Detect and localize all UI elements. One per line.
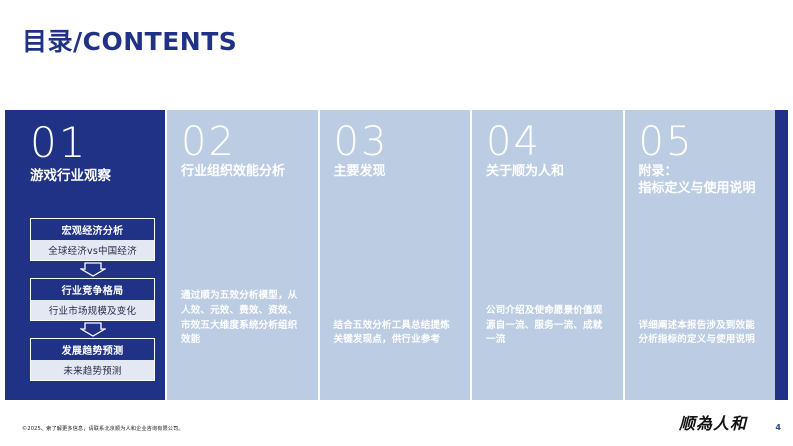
panel-subtitle-04: 关于顺为人和 [486, 164, 609, 181]
panel-list: 01 游戏行业观察 宏观经济分析 全球经济vs中国经济 行业竞争格局 行业市场规… [18, 110, 775, 400]
contents-panel-01[interactable]: 01 游戏行业观察 宏观经济分析 全球经济vs中国经济 行业竞争格局 行业市场规… [18, 110, 165, 400]
flow-step-1-detail: 全球经济vs中国经济 [31, 240, 154, 260]
contents-panel-03[interactable]: 03 主要发现 结合五效分析工具总结提炼关键发现点，供行业参考 [320, 110, 471, 400]
brand-logo: 顺為人和 [679, 410, 747, 434]
flow-step-2-title: 行业竞争格局 [31, 279, 154, 300]
contents-panel-02[interactable]: 02 行业组织效能分析 通过顺为五效分析模型，从人效、元效、费效、资效、市效五大… [167, 110, 318, 400]
band-right-edge [775, 110, 788, 400]
flow-step-1[interactable]: 宏观经济分析 全球经济vs中国经济 [30, 218, 155, 261]
panel-description-05: 详细阐述本报告涉及到效能分析指标的定义与使用说明 [639, 319, 764, 348]
panel-description-04: 公司介绍及使命愿景价值观源自一流、服务一流、成就一流 [486, 304, 611, 348]
flow-arrow-1-icon [30, 261, 155, 278]
panel-number-05: 05 [639, 122, 762, 162]
contents-panel-04[interactable]: 04 关于顺为人和 公司介绍及使命愿景价值观源自一流、服务一流、成就一流 [472, 110, 623, 400]
panel-number-03: 03 [334, 122, 457, 162]
page-title: 目录/CONTENTS [22, 28, 237, 56]
panel-subtitle-05: 附录： 指标定义与使用说明 [639, 164, 762, 197]
flow-step-1-title: 宏观经济分析 [31, 219, 154, 240]
contents-panel-05[interactable]: 05 附录： 指标定义与使用说明 详细阐述本报告涉及到效能分析指标的定义与使用说… [625, 110, 776, 400]
flow-step-2[interactable]: 行业竞争格局 行业市场规模及变化 [30, 278, 155, 321]
flow-step-3[interactable]: 发展趋势预测 未来趋势预测 [30, 338, 155, 381]
contents-band: 01 游戏行业观察 宏观经济分析 全球经济vs中国经济 行业竞争格局 行业市场规… [5, 110, 788, 400]
flow-step-3-title: 发展趋势预测 [31, 339, 154, 360]
page-number: 4 [775, 423, 781, 432]
flow-diagram: 宏观经济分析 全球经济vs中国经济 行业竞争格局 行业市场规模及变化 [30, 218, 155, 381]
flow-arrow-2-icon [30, 321, 155, 338]
panel-subtitle-03: 主要发现 [334, 164, 457, 181]
panel-subtitle-01: 游戏行业观察 [30, 168, 155, 185]
footer-copyright: ©2025、索了解更多信息，请联系北京顺为人和企业咨询有限公司。 [22, 425, 184, 432]
panel-description-02: 通过顺为五效分析模型，从人效、元效、费效、资效、市效五大维度系统分析组织效能 [181, 289, 306, 348]
panel-number-01: 01 [30, 122, 155, 164]
panel-description-03: 结合五效分析工具总结提炼关键发现点，供行业参考 [334, 319, 459, 348]
panel-subtitle-02: 行业组织效能分析 [181, 164, 304, 181]
flow-step-2-detail: 行业市场规模及变化 [31, 300, 154, 320]
flow-step-3-detail: 未来趋势预测 [31, 360, 154, 380]
panel-number-04: 04 [486, 122, 609, 162]
panel-number-02: 02 [181, 122, 304, 162]
band-left-edge [5, 110, 18, 400]
